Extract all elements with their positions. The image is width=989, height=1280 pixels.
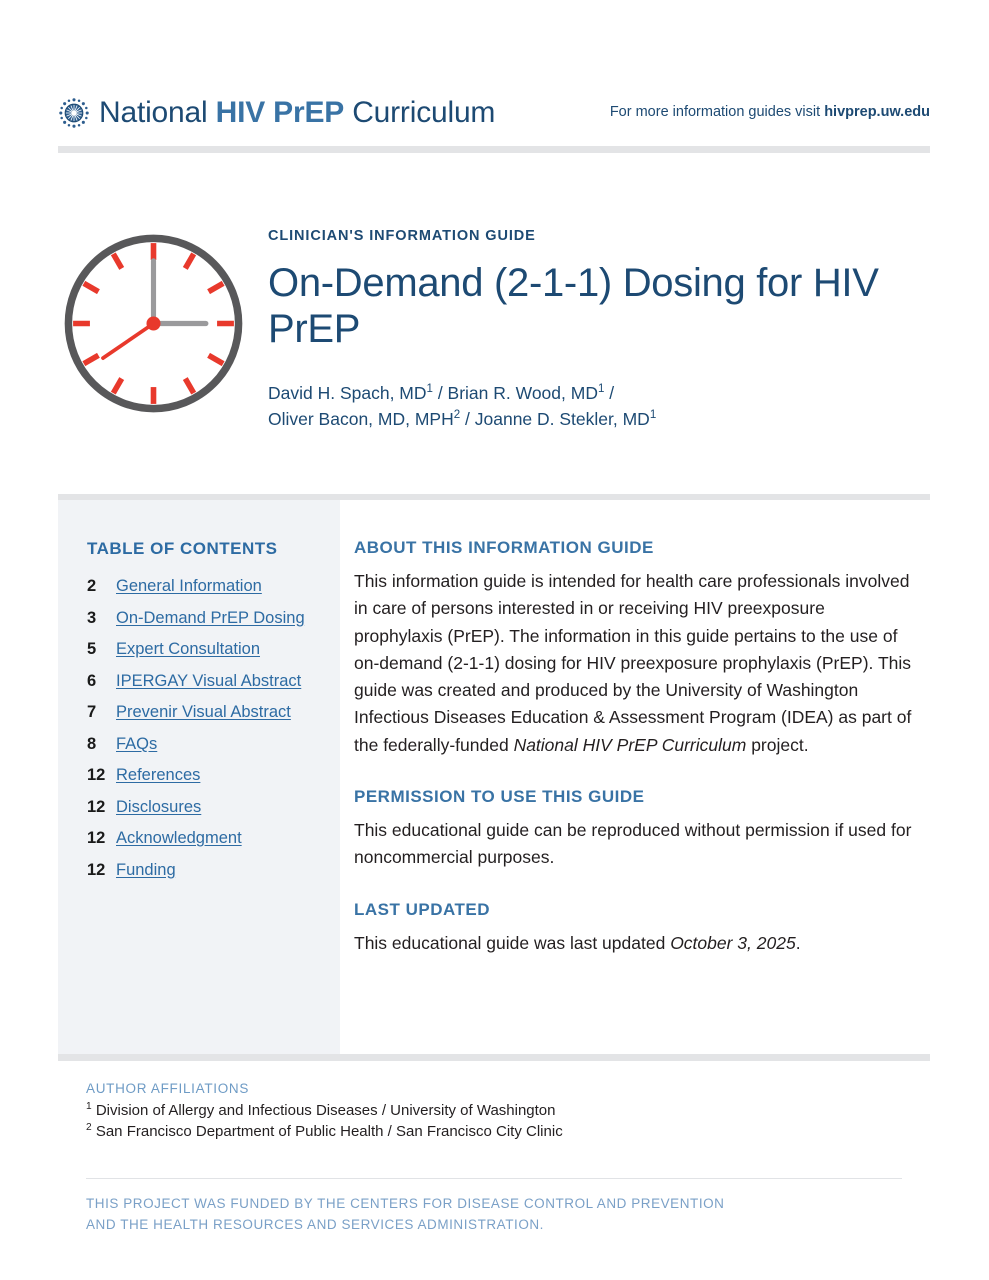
panel-bottom-divider <box>58 1054 930 1061</box>
toc-page-number: 12 <box>87 861 116 880</box>
panel-main-column: ABOUT THIS INFORMATION GUIDE This inform… <box>354 538 918 985</box>
document-page: National HIV PrEP Curriculum For more in… <box>0 0 989 1280</box>
funding-line-2: AND THE HEALTH RESOURCES AND SERVICES AD… <box>86 1214 846 1235</box>
toc-link[interactable]: Acknowledgment <box>116 829 242 848</box>
info-panel: TABLE OF CONTENTS 2General Information3O… <box>58 500 930 1054</box>
about-body-text-end: project. <box>746 735 808 755</box>
author-line-1: David H. Spach, MD1 / Brian R. Wood, MD1… <box>268 380 908 407</box>
sunburst-compass-icon <box>58 97 90 129</box>
toc-item[interactable]: 7Prevenir Visual Abstract <box>87 703 327 722</box>
about-body-text: This information guide is intended for h… <box>354 571 911 755</box>
toc-page-number: 12 <box>87 798 116 817</box>
about-section: ABOUT THIS INFORMATION GUIDE This inform… <box>354 538 918 759</box>
last-updated-section: LAST UPDATED This educational guide was … <box>354 900 918 957</box>
header-divider <box>58 146 930 153</box>
toc-link[interactable]: Funding <box>116 861 176 880</box>
toc-link[interactable]: IPERGAY Visual Abstract <box>116 672 301 691</box>
brand-title-part3: Curriculum <box>344 96 495 129</box>
brand-title-part1: National <box>99 96 216 129</box>
permission-body: This educational guide can be reproduced… <box>354 817 918 872</box>
toc-page-number: 8 <box>87 735 116 754</box>
toc-page-number: 5 <box>87 640 116 659</box>
author-line-2: Oliver Bacon, MD, MPH2 / Joanne D. Stekl… <box>268 406 908 433</box>
footer-divider <box>86 1178 902 1179</box>
title-block: CLINICIAN'S INFORMATION GUIDE On-Demand … <box>268 228 908 433</box>
affiliation-text: San Francisco Department of Public Healt… <box>92 1123 563 1140</box>
toc-item[interactable]: 6IPERGAY Visual Abstract <box>87 672 327 691</box>
affiliation-text: Division of Allergy and Infectious Disea… <box>92 1102 556 1119</box>
masthead-note: For more information guides visit hivpre… <box>610 104 930 122</box>
affiliations-list: 1 Division of Allergy and Infectious Dis… <box>86 1100 786 1143</box>
about-body: This information guide is intended for h… <box>354 568 918 759</box>
author-affil-marker-4: 1 <box>650 410 656 422</box>
toc-item[interactable]: 12Acknowledgment <box>87 829 327 848</box>
last-updated-text: This educational guide was last updated <box>354 933 670 953</box>
toc-page-number: 12 <box>87 829 116 848</box>
table-of-contents: TABLE OF CONTENTS 2General Information3O… <box>87 539 327 892</box>
permission-section: PERMISSION TO USE THIS GUIDE This educat… <box>354 787 918 872</box>
toc-link[interactable]: On-Demand PrEP Dosing <box>116 609 305 628</box>
author-name-3: Oliver Bacon, MD, MPH <box>268 409 454 429</box>
author-affiliations: AUTHOR AFFILIATIONS 1 Division of Allerg… <box>86 1081 786 1143</box>
last-updated-body: This educational guide was last updated … <box>354 930 918 957</box>
affiliation-line: 2 San Francisco Department of Public Hea… <box>86 1121 786 1142</box>
permission-heading: PERMISSION TO USE THIS GUIDE <box>354 787 918 807</box>
toc-item[interactable]: 12Disclosures <box>87 798 327 817</box>
affiliation-line: 1 Division of Allergy and Infectious Dis… <box>86 1100 786 1121</box>
toc-page-number: 12 <box>87 766 116 785</box>
analog-clock-icon <box>60 230 247 417</box>
funding-notice: THIS PROJECT WAS FUNDED BY THE CENTERS F… <box>86 1193 846 1236</box>
toc-item[interactable]: 12References <box>87 766 327 785</box>
toc-item[interactable]: 8FAQs <box>87 735 327 754</box>
masthead-website-link[interactable]: hivprep.uw.edu <box>824 104 930 120</box>
toc-item[interactable]: 2General Information <box>87 577 327 596</box>
toc-link[interactable]: Disclosures <box>116 798 201 817</box>
toc-link[interactable]: Prevenir Visual Abstract <box>116 703 291 722</box>
author-list: David H. Spach, MD1 / Brian R. Wood, MD1… <box>268 380 908 433</box>
about-body-emphasis: National HIV PrEP Curriculum <box>514 735 747 755</box>
site-masthead: National HIV PrEP Curriculum For more in… <box>58 88 930 138</box>
affiliations-heading: AUTHOR AFFILIATIONS <box>86 1081 786 1096</box>
page-title: On-Demand (2-1-1) Dosing for HIV PrEP <box>268 260 908 353</box>
toc-page-number: 6 <box>87 672 116 691</box>
masthead-note-prefix: For more information guides visit <box>610 104 824 120</box>
document-eyebrow: CLINICIAN'S INFORMATION GUIDE <box>268 228 908 244</box>
toc-link[interactable]: FAQs <box>116 735 157 754</box>
author-name-4: / Joanne D. Stekler, MD <box>460 409 650 429</box>
toc-list: 2General Information3On-Demand PrEP Dosi… <box>87 577 327 880</box>
toc-link[interactable]: References <box>116 766 200 785</box>
toc-link[interactable]: General Information <box>116 577 262 596</box>
last-updated-text-end: . <box>796 933 801 953</box>
brand-lockup: National HIV PrEP Curriculum <box>58 97 495 129</box>
author-name-1: David H. Spach, MD <box>268 383 427 403</box>
about-heading: ABOUT THIS INFORMATION GUIDE <box>354 538 918 558</box>
funding-line-1: THIS PROJECT WAS FUNDED BY THE CENTERS F… <box>86 1193 846 1214</box>
toc-item[interactable]: 12Funding <box>87 861 327 880</box>
brand-title-part2: HIV PrEP <box>216 96 344 129</box>
toc-item[interactable]: 3On-Demand PrEP Dosing <box>87 609 327 628</box>
toc-heading: TABLE OF CONTENTS <box>87 539 327 559</box>
toc-page-number: 3 <box>87 609 116 628</box>
author-name-2: / Brian R. Wood, MD <box>433 383 598 403</box>
brand-title: National HIV PrEP Curriculum <box>99 98 495 128</box>
toc-item[interactable]: 5Expert Consultation <box>87 640 327 659</box>
author-separator: / <box>604 383 614 403</box>
toc-page-number: 7 <box>87 703 116 722</box>
toc-link[interactable]: Expert Consultation <box>116 640 260 659</box>
last-updated-heading: LAST UPDATED <box>354 900 918 920</box>
toc-page-number: 2 <box>87 577 116 596</box>
last-updated-date: October 3, 2025 <box>670 933 796 953</box>
